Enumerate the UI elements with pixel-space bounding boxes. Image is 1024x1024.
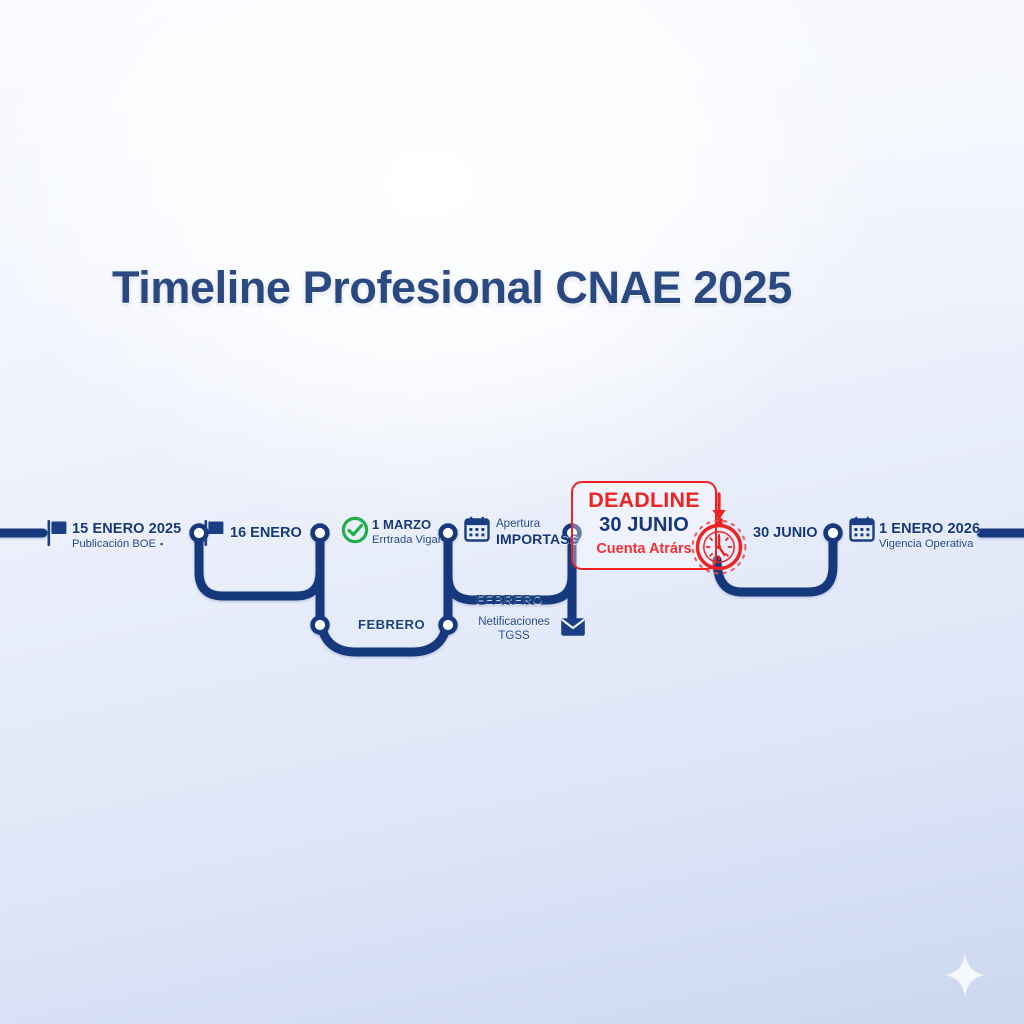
calendar-icon: [463, 515, 491, 543]
month-marker-febrero-loop: FEBRERO: [358, 617, 425, 632]
milestone-date: 1 ENERO 2026: [879, 521, 980, 537]
milestone-apertura-importass: Apertura IMPORTASS: [496, 518, 579, 548]
timeline-node: [441, 618, 456, 633]
check-circle-icon: [340, 515, 370, 545]
milestone-detail: IMPORTASS: [496, 532, 579, 548]
milestone-date: 1 MARZO: [372, 518, 441, 533]
deadline-side-label: 30 JUNIO: [753, 525, 817, 541]
timeline-node: [826, 526, 841, 541]
sparkle-icon: [944, 952, 986, 998]
calendar-icon: [848, 515, 876, 543]
timeline-node: [441, 526, 456, 541]
track-segment-a: [199, 540, 320, 596]
milestone-detail: Publicación BOE▪: [72, 538, 181, 551]
milestone-detail: Vigencia Operativa: [879, 538, 980, 551]
track-segment-c: [448, 540, 572, 600]
month-marker-febrero-curve: FEBRERO: [476, 592, 543, 607]
flag-icon: [203, 519, 225, 547]
timeline-track: [0, 0, 1024, 1024]
notificaciones-tgss-label: Netificaciones TGSS: [466, 616, 562, 643]
infographic-canvas: Timeline Profesional CNAE 2025: [0, 0, 1024, 1024]
milestone-entrada-vigor: 1 MARZO Errtrada Vigar: [372, 518, 441, 546]
envelope-icon: [560, 617, 586, 637]
milestone-detail: Errtrada Vigar: [372, 534, 441, 547]
milestone-date: Apertura: [496, 518, 579, 531]
milestone-vigencia-operativa: 1 ENERO 2026 Vigencia Operativa: [879, 521, 980, 551]
track-segment-b: [320, 540, 448, 652]
milestone-publicacion-boe: 15 ENERO 2025 Publicación BOE▪: [72, 521, 181, 551]
milestone-date: 15 ENERO 2025: [72, 521, 181, 537]
timeline-node: [313, 526, 328, 541]
milestone-16-enero: 16 ENERO: [230, 525, 302, 541]
flag-icon: [46, 519, 68, 547]
timeline-node: [313, 618, 328, 633]
trailing-mark-icon: ▪: [160, 539, 163, 549]
